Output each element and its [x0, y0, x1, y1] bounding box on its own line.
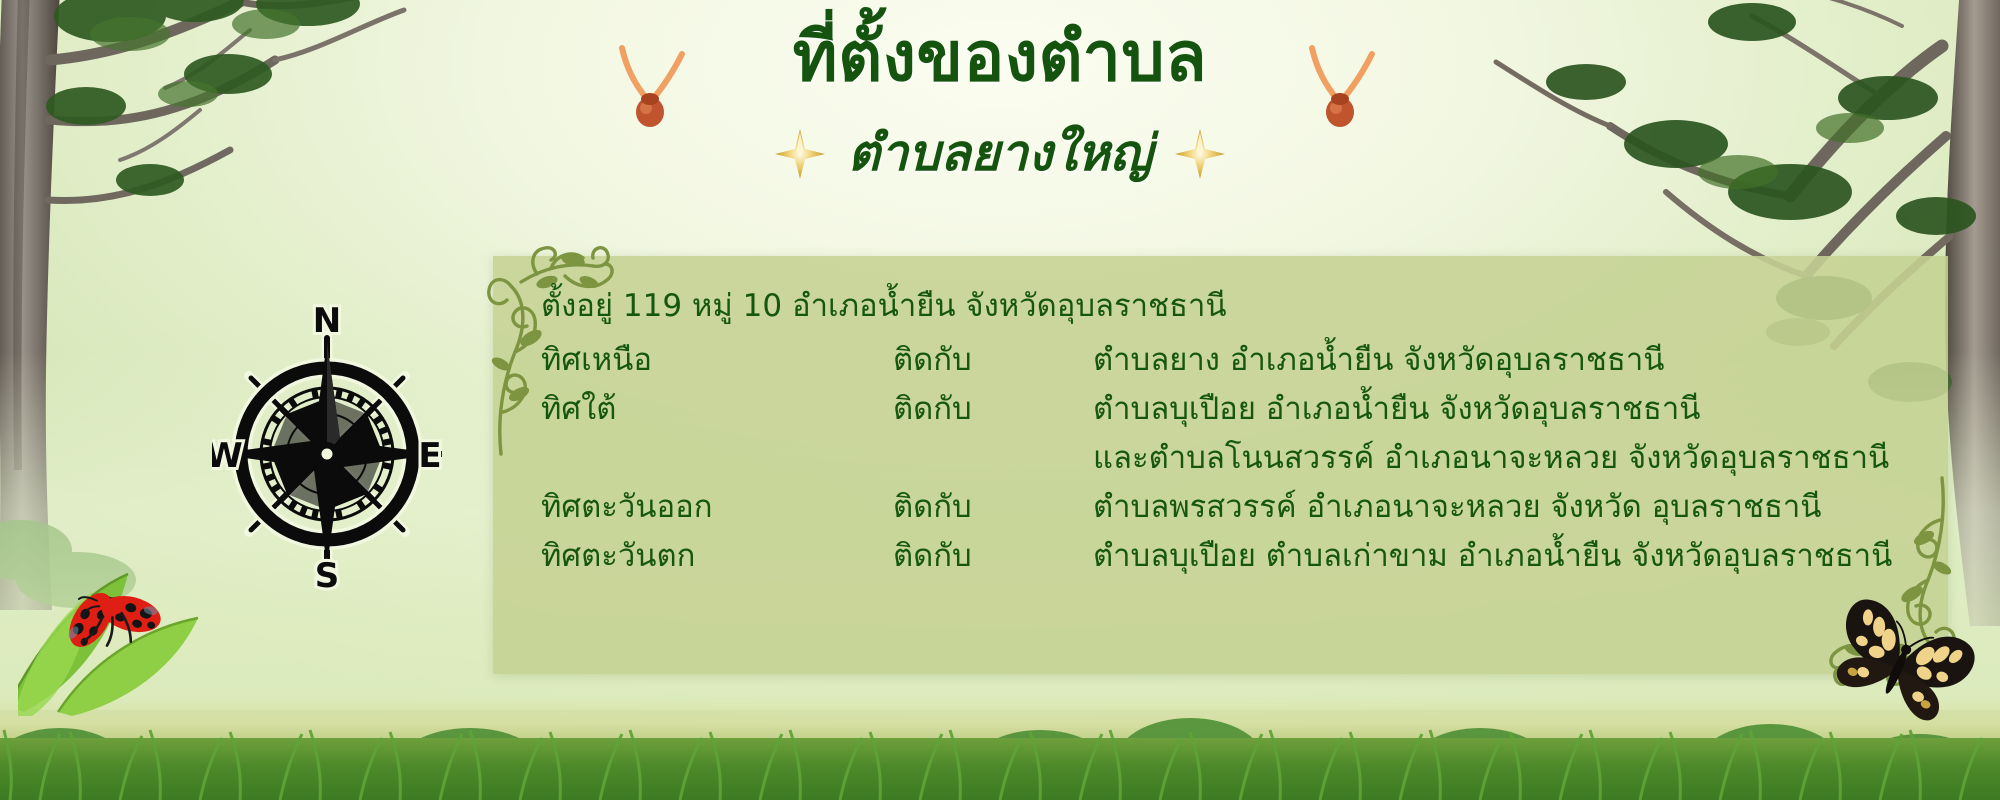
- compass-label-south: S: [315, 556, 340, 594]
- compass-label-east: E: [418, 436, 441, 476]
- direction-label: ทิศเหนือ: [541, 336, 893, 385]
- location-info-panel: ตั้งอยู่ 119 หมู่ 10 อำเภอน้ำยืน จังหวัด…: [493, 256, 1948, 674]
- boundary-value: ตำบลยาง อำเภอน้ำยืน จังหวัดอุบลราชธานี: [1093, 336, 1892, 385]
- direction-label-empty: [541, 434, 893, 483]
- direction-label: ทิศตะวันตก: [541, 532, 893, 581]
- boundaries-table: ทิศเหนือ ติดกับ ตำบลยาง อำเภอน้ำยืน จังห…: [541, 336, 1892, 581]
- panel-content: ตั้งอยู่ 119 หมู่ 10 อำเภอน้ำยืน จังหวัด…: [541, 284, 1924, 581]
- page-subtitle: ตำบลยางใหญ่: [848, 114, 1153, 193]
- relation-label: ติดกับ: [893, 483, 1093, 532]
- relation-label: ติดกับ: [893, 385, 1093, 434]
- boundary-value: ตำบลบุเปือย ตำบลเก่าขาม อำเภอน้ำยืน จังห…: [1093, 532, 1892, 581]
- compass-label-north: N: [313, 304, 341, 341]
- boundary-value: ตำบลพรสวรรค์ อำเภอนาจะหลวย จังหวัด อุบลร…: [1093, 483, 1892, 532]
- table-row: ทิศใต้ ติดกับ ตำบลบุเปือย อำเภอน้ำยืน จั…: [541, 385, 1892, 434]
- title-block: ที่ตั้งของตำบล ตำบลยางใหญ่: [0, 18, 2000, 193]
- boundary-value-continued: และตำบลโนนสวรรค์ อำเภอนาจะหลวย จังหวัดอุ…: [1093, 434, 1892, 483]
- table-row: ทิศเหนือ ติดกับ ตำบลยาง อำเภอน้ำยืน จังห…: [541, 336, 1892, 385]
- ladybug-icon: [18, 526, 318, 716]
- relation-label-empty: [893, 434, 1093, 483]
- boundary-value: ตำบลบุเปือย อำเภอน้ำยืน จังหวัดอุบลราชธา…: [1093, 385, 1892, 434]
- subtitle-row: ตำบลยางใหญ่: [0, 114, 2000, 193]
- page-title: ที่ตั้งของตำบล: [793, 18, 1207, 98]
- location-banner: ที่ตั้งของตำบล ตำบลยางใหญ่: [0, 0, 2000, 800]
- compass-label-west: W: [212, 436, 243, 476]
- address-line: ตั้งอยู่ 119 หมู่ 10 อำเภอน้ำยืน จังหวัด…: [541, 284, 1924, 328]
- table-row: ทิศตะวันตก ติดกับ ตำบลบุเปือย ตำบลเก่าขา…: [541, 532, 1892, 581]
- relation-label: ติดกับ: [893, 532, 1093, 581]
- table-row: ทิศตะวันออก ติดกับ ตำบลพรสวรรค์ อำเภอนาจ…: [541, 483, 1892, 532]
- direction-label: ทิศตะวันออก: [541, 483, 893, 532]
- sparkle-star-icon: [774, 128, 826, 180]
- table-row-continuation: และตำบลโนนสวรรค์ อำเภอนาจะหลวย จังหวัดอุ…: [541, 434, 1892, 483]
- direction-label: ทิศใต้: [541, 385, 893, 434]
- relation-label: ติดกับ: [893, 336, 1093, 385]
- sparkle-star-icon: [1174, 128, 1226, 180]
- compass-rose-icon: N S E W: [212, 304, 442, 594]
